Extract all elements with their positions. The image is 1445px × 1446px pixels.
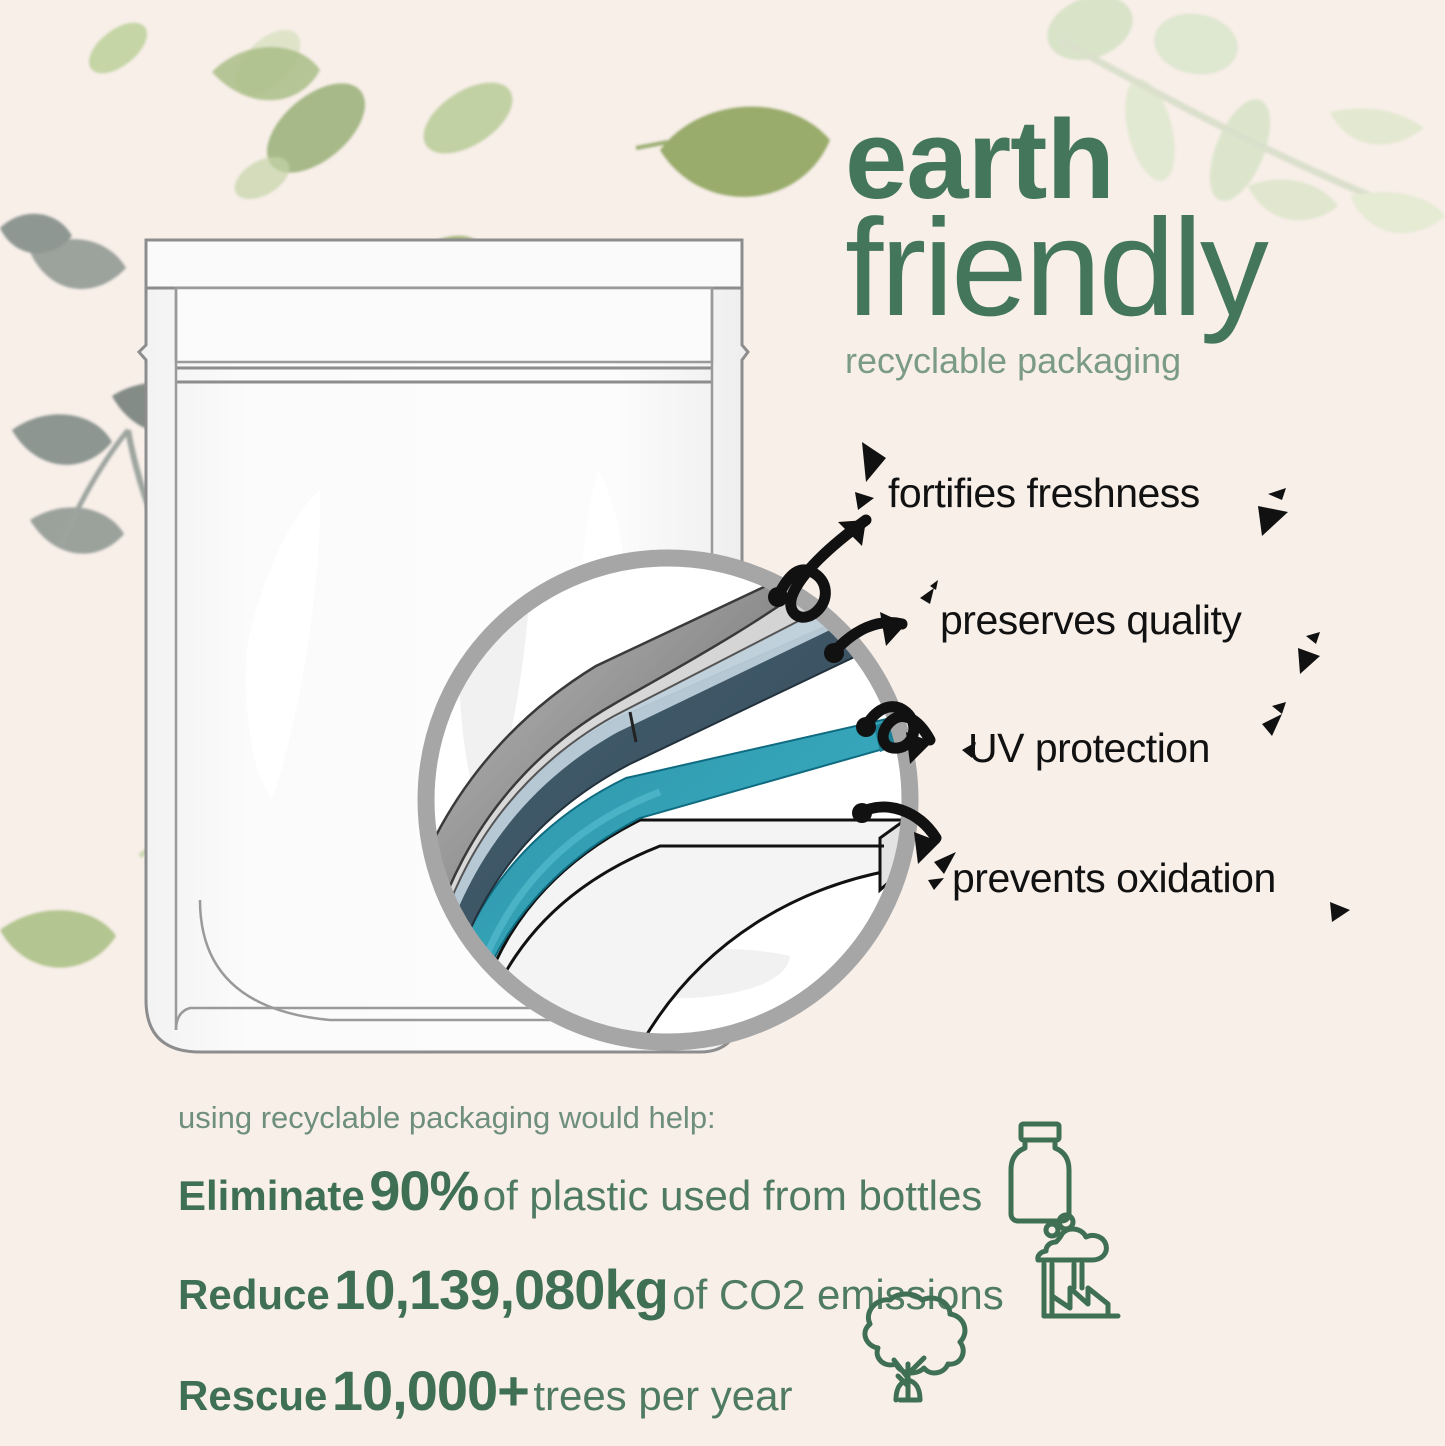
stat-row-rescue: Rescue 10,000+ trees per year: [178, 1358, 1278, 1423]
infographic-canvas: earth friendly recyclable packaging fort…: [0, 0, 1445, 1446]
headline-block: earth friendly recyclable packaging: [845, 108, 1405, 382]
stat-value: 90%: [369, 1159, 478, 1222]
page-subtitle: recyclable packaging: [845, 340, 1405, 382]
stat-tail: of plastic used from bottles: [483, 1172, 983, 1219]
stat-verb: Rescue: [178, 1372, 327, 1419]
stat-verb: Eliminate: [178, 1172, 365, 1219]
stat-value: 10,000+: [332, 1359, 529, 1422]
tree-icon: [838, 1288, 978, 1412]
feature-label-prevents-oxidation: prevents oxidation: [952, 855, 1276, 902]
feature-label-uv-protection: UV protection: [968, 725, 1210, 772]
stat-tail: trees per year: [533, 1372, 792, 1419]
stat-value: 10,139,080kg: [334, 1258, 668, 1321]
stat-verb: Reduce: [178, 1271, 330, 1318]
stats-intro: using recyclable packaging would help:: [178, 1100, 1278, 1136]
feature-label-fortifies-freshness: fortifies freshness: [888, 470, 1200, 517]
factory-icon: [1022, 1208, 1132, 1324]
page-title-line2: friendly: [845, 205, 1405, 332]
feature-label-preserves-quality: preserves quality: [940, 597, 1241, 644]
